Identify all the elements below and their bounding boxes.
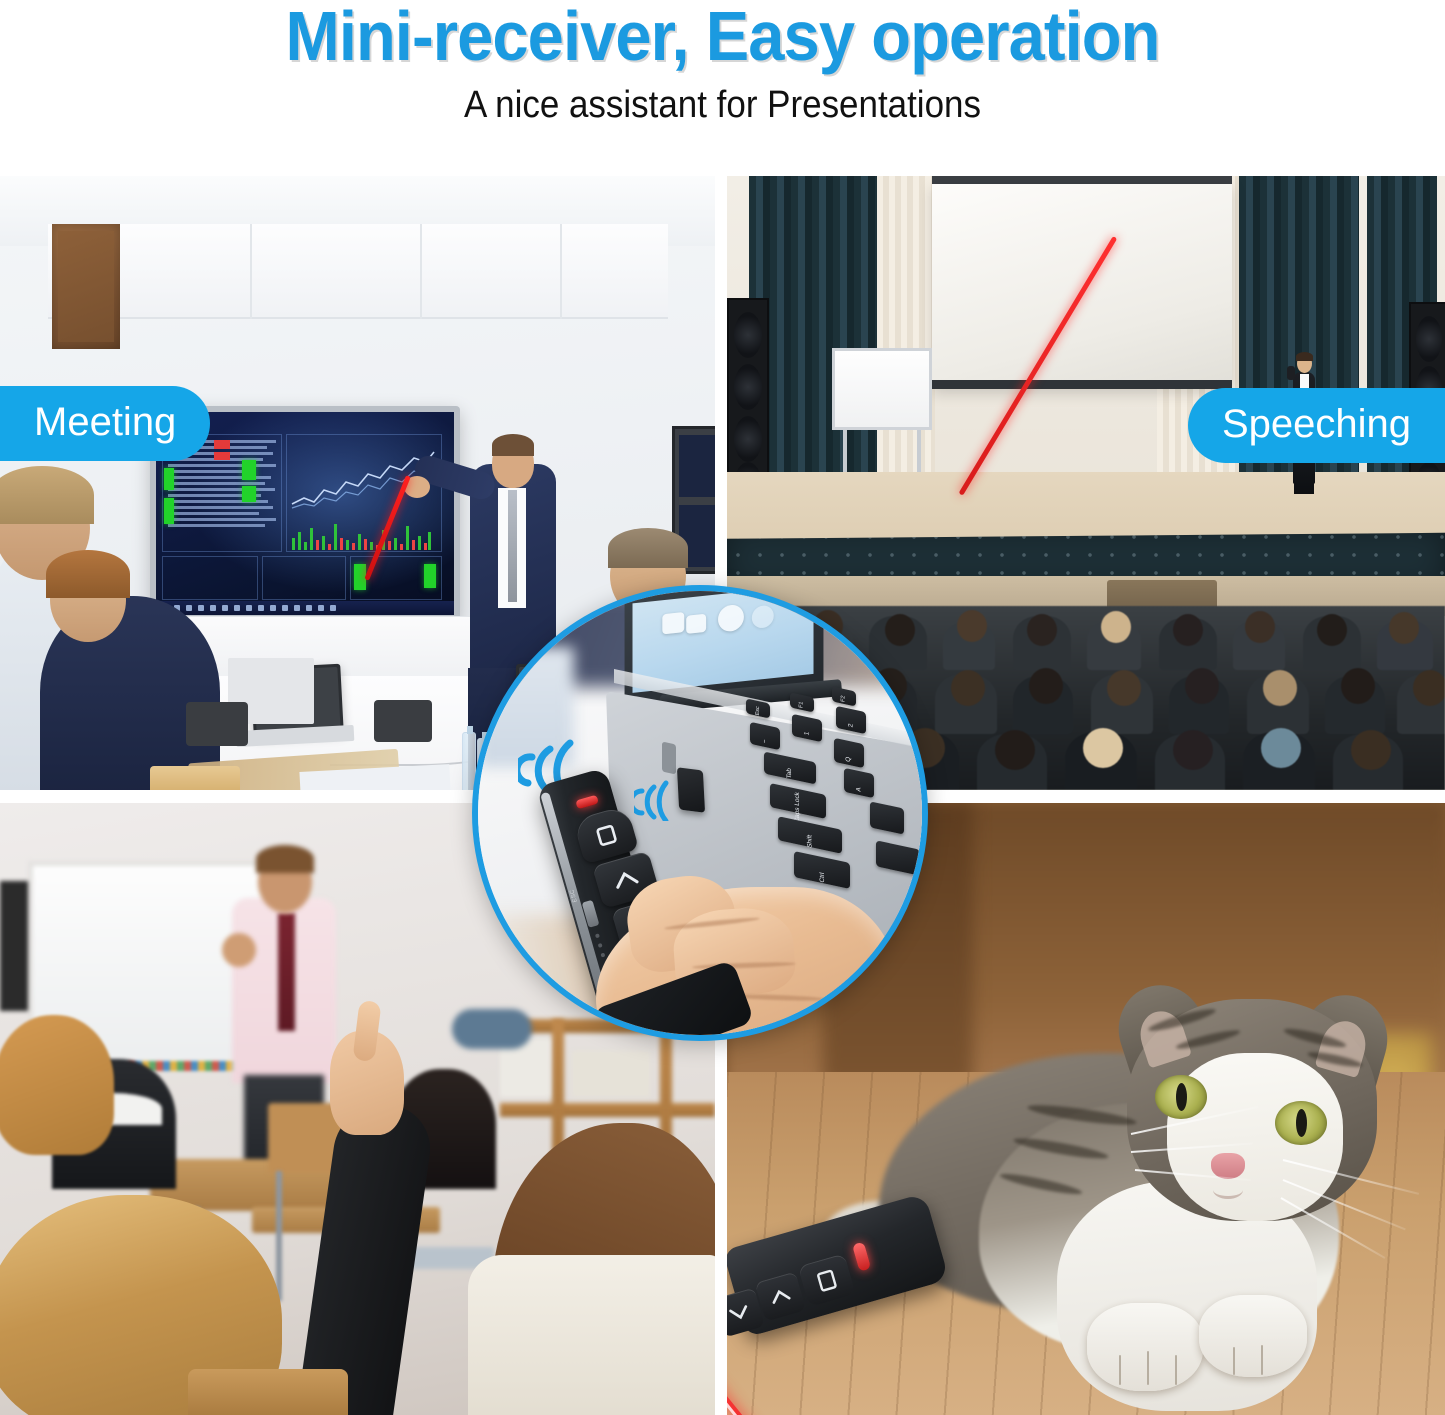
cabinet-seam: [250, 224, 252, 319]
page-subtitle: A nice assistant for Presentations: [58, 84, 1387, 127]
chair: [186, 702, 248, 746]
header: Mini-receiver, Easy operation A nice ass…: [0, 0, 1445, 170]
dashboard-pane: [262, 556, 346, 600]
teacher-hand: [222, 933, 256, 967]
cat-pupil-right: [1296, 1109, 1307, 1137]
loss-block: [214, 452, 230, 460]
safari-icon: [718, 604, 744, 633]
chair-leg: [276, 1171, 282, 1301]
chair: [374, 700, 432, 742]
finder-icon: [662, 612, 684, 634]
hand-on-table: [150, 766, 240, 790]
attendee-hair: [46, 550, 130, 598]
student-white-top: [468, 1255, 715, 1415]
gain-block: [164, 498, 174, 524]
badge-speeching: Speeching: [1188, 388, 1445, 463]
cat-mouth: [1213, 1181, 1243, 1199]
gain-block: [424, 564, 436, 588]
presenter-hair: [492, 434, 534, 456]
teacher-tie: [278, 913, 295, 1031]
cat-paw-right: [1199, 1295, 1307, 1377]
dashboard-pane: [162, 556, 258, 600]
finder-icon-2: [686, 614, 706, 634]
chair-foreground: [188, 1369, 348, 1415]
cat-paw-left: [1087, 1303, 1203, 1391]
badge-meeting: Meeting: [0, 386, 210, 461]
dock-icon: [752, 605, 774, 629]
whiteboard: [832, 348, 932, 430]
bookshelf: [500, 1103, 715, 1117]
gain-block: [242, 486, 256, 502]
inset-circle: Esc F1 F2 ~ 1 2 Tab Q Caps Lock A Shift …: [472, 585, 928, 1041]
cabinet-seam: [420, 224, 422, 319]
receiver-closeup-inset: Esc F1 F2 ~ 1 2 Tab Q Caps Lock A Shift …: [472, 585, 928, 1041]
cat-pupil-left: [1176, 1083, 1187, 1111]
attendee-hair: [608, 528, 688, 568]
upper-cabinets: [48, 224, 668, 319]
loss-block: [214, 440, 230, 449]
volume-histogram: [290, 516, 436, 550]
laptop-screen: [633, 585, 814, 693]
page-title: Mini-receiver, Easy operation: [51, 0, 1395, 76]
microphone: [1287, 366, 1295, 380]
teacher-hair: [256, 845, 314, 873]
student-hair: [0, 1015, 114, 1155]
gain-block: [164, 468, 174, 490]
shelf-item: [572, 1051, 650, 1097]
cabinet-seam: [560, 224, 562, 319]
gain-block: [242, 460, 256, 480]
product-feature-image: Mini-receiver, Easy operation A nice ass…: [0, 0, 1445, 1415]
wooden-wall-box: [52, 224, 120, 349]
speaker-hair: [1296, 352, 1313, 361]
attendee-hair: [0, 466, 94, 524]
